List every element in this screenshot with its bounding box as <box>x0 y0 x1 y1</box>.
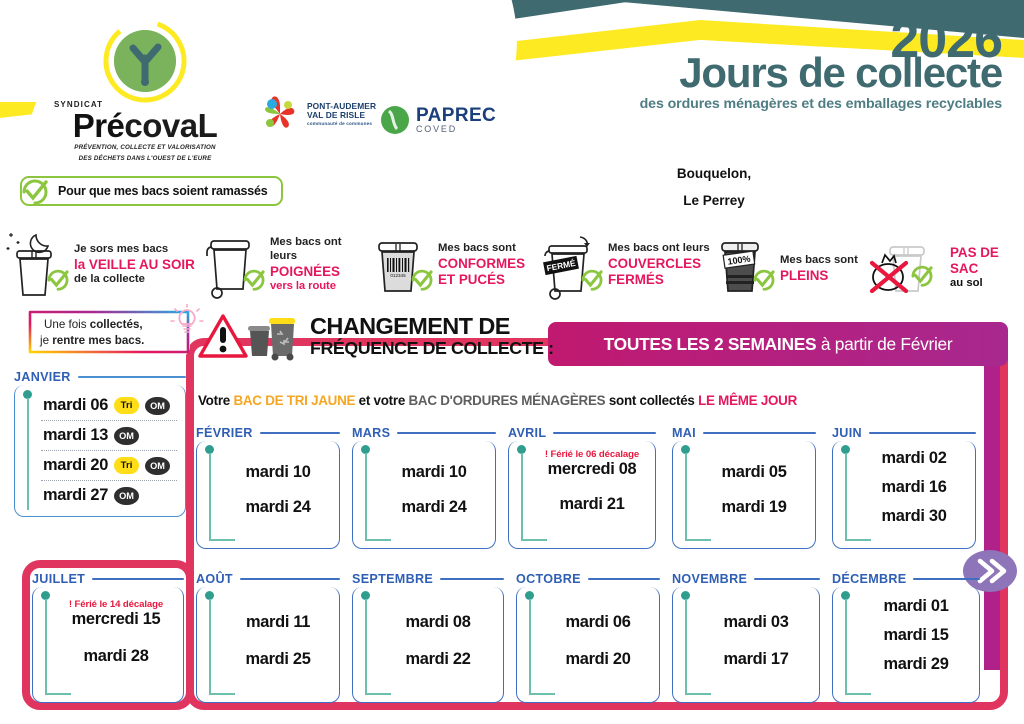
month-date: mardi 03 <box>703 613 809 632</box>
rule-line2: CONFORMES <box>438 256 525 272</box>
frequency-rest: à partir de Février <box>816 334 952 354</box>
month-date: mardi 24 <box>383 498 485 517</box>
month-rule <box>397 432 496 434</box>
timeline-foot <box>685 539 711 541</box>
month-card-octobre: OCTOBRE mardi 06 mardi 20 <box>516 570 660 703</box>
bins-collected-label: Pour que mes bacs soient ramassés <box>58 184 267 198</box>
month-card-mai: MAI mardi 05 mardi 19 <box>672 424 816 549</box>
month-date: mardi 10 <box>383 463 485 482</box>
return-bins-l2a: je <box>40 334 52 347</box>
town-2: Le Perrey <box>614 187 814 214</box>
month-card-mars: MARS mardi 10 mardi 24 <box>352 424 496 549</box>
rule-text: Je sors mes bacs la VEILLE AU SOIR de la… <box>62 243 195 287</box>
month-dates: mardi 11 mardi 25 <box>227 613 329 669</box>
month-name-fevrier: FÉVRIER <box>196 426 253 440</box>
rule-line3: ET PUCÉS <box>438 272 525 288</box>
month-name-mars: MARS <box>352 426 390 440</box>
check-icon <box>408 267 436 295</box>
month-timeline <box>205 445 215 541</box>
paprec-sub: COVED <box>416 125 496 134</box>
month-card-juillet: JUILLET ! Férié le 14 décalage mercredi … <box>32 570 184 703</box>
month-date: mardi 25 <box>227 650 329 669</box>
return-bins-line1: Une fois collectés, <box>30 317 182 333</box>
janvier-row: mardi 20 Tri OM <box>37 451 181 480</box>
janvier-date: mardi 06 <box>43 396 108 415</box>
notice-part-6: LE MÊME JOUR <box>698 393 797 408</box>
timeline-foot <box>529 693 555 695</box>
pavr-flower-icon <box>258 92 302 136</box>
return-bins-line2: je rentre mes bacs. <box>30 333 182 349</box>
janvier-date: mardi 13 <box>43 426 108 445</box>
notice-part-3: et votre <box>355 393 408 408</box>
frequency-value-text: TOUTES LES 2 SEMAINES à partir de Févrie… <box>604 334 953 355</box>
month-date: mardi 30 <box>863 507 965 526</box>
month-date: mardi 29 <box>863 655 969 674</box>
rule-line2: POIGNÉES <box>270 264 370 280</box>
month-date: mardi 02 <box>863 449 965 468</box>
rule-line1: Mes bacs ont leurs <box>608 242 710 256</box>
badge-om: OM <box>114 487 139 505</box>
pavr-sub: communauté de communes <box>307 121 376 126</box>
bin-closed-icon: FERMÉ <box>540 229 596 301</box>
frequency-change-line2: FRÉQUENCE DE COLLECTE : <box>310 339 554 358</box>
month-box-juillet: ! Férié le 14 décalage mercredi 15 mardi… <box>32 587 184 703</box>
month-card-juin: JUIN mardi 02 mardi 16 mardi 30 <box>832 424 976 549</box>
rule-text: Mes bacs sont CONFORMES ET PUCÉS <box>426 242 525 288</box>
rule-text: PAS DE SAC au sol <box>934 239 1014 291</box>
month-card-aout: AOÛT mardi 11 mardi 25 <box>196 570 340 703</box>
month-rule <box>588 578 660 580</box>
month-date: mardi 15 <box>863 626 969 645</box>
frequency-value-banner: TOUTES LES 2 SEMAINES à partir de Févrie… <box>548 322 1008 366</box>
logo-wordmark: PrécovaL <box>30 109 260 142</box>
month-rule <box>703 432 816 434</box>
frequency-change-line1: CHANGEMENT DE <box>310 314 554 339</box>
month-card-septembre: SEPTEMBRE mardi 08 mardi 22 <box>352 570 504 703</box>
logo-tagline-line2: DES DÉCHETS DANS L'OUEST DE L'EURE <box>30 155 260 164</box>
month-date: mardi 16 <box>863 478 965 497</box>
month-rule <box>553 432 656 434</box>
rule-no-bag: PAS DE SAC au sol <box>864 224 1014 306</box>
month-timeline <box>681 591 691 695</box>
timeline-stem <box>845 599 847 695</box>
month-timeline <box>41 591 51 695</box>
month-header-janvier: JANVIER <box>14 368 186 385</box>
month-rule <box>240 578 340 580</box>
timeline-stem <box>27 398 29 510</box>
month-name-aout: AOÛT <box>196 572 233 586</box>
month-rule <box>260 432 340 434</box>
month-name-mai: MAI <box>672 426 696 440</box>
precoval-logo: SYNDICAT PrécovaL PRÉVENTION, COLLECTE E… <box>30 18 260 158</box>
frequency-change-banner: CHANGEMENT DE FRÉQUENCE DE COLLECTE : <box>198 310 554 362</box>
month-rule <box>92 578 184 580</box>
month-date: mardi 19 <box>703 498 805 517</box>
month-rule <box>869 432 976 434</box>
check-icon <box>240 267 268 295</box>
month-box-juin: mardi 02 mardi 16 mardi 30 <box>832 441 976 549</box>
janvier-date: mardi 27 <box>43 486 108 505</box>
timeline-stem <box>365 453 367 541</box>
timeline-foot <box>845 693 871 695</box>
month-timeline <box>525 591 535 695</box>
month-date: mardi 28 <box>55 647 177 666</box>
month-date: mardi 06 <box>547 613 649 632</box>
month-timeline <box>361 445 371 541</box>
timeline-stem <box>209 453 211 541</box>
month-timeline <box>681 445 691 541</box>
month-date: mercredi 08 <box>535 460 649 479</box>
frequency-bold: TOUTES LES 2 SEMAINES <box>604 334 817 354</box>
timeline-stem <box>45 599 47 695</box>
timeline-foot <box>521 539 547 541</box>
bin-full-icon: 100% <box>712 229 768 301</box>
month-box-octobre: mardi 06 mardi 20 <box>516 587 660 703</box>
month-dates: mardi 08 mardi 22 <box>383 613 493 669</box>
month-date: mardi 01 <box>863 597 969 616</box>
logo-tagline-line1: PRÉVENTION, COLLECTE ET VALORISATION <box>30 144 260 153</box>
rule-bin-full: 100% Mes bacs sont PLEINS <box>712 224 864 306</box>
check-icon <box>578 267 606 295</box>
timeline-stem <box>209 599 211 695</box>
town-1: Bouquelon, <box>614 160 814 187</box>
timeline-foot <box>845 539 871 541</box>
month-card-janvier: JANVIER mardi 06 Tri OM mardi 13 OM mard… <box>14 368 186 517</box>
notice-part-4: BAC D'ORDURES MÉNAGÈRES <box>409 393 606 408</box>
rule-line3: vers la route <box>270 280 370 294</box>
timeline-foot <box>209 539 235 541</box>
month-name-juin: JUIN <box>832 426 862 440</box>
timeline-stem <box>365 599 367 695</box>
month-holiday-note: ! Férié le 14 décalage <box>55 599 177 610</box>
month-name-octobre: OCTOBRE <box>516 572 581 586</box>
month-card-decembre: DÉCEMBRE mardi 01 mardi 15 mardi 29 <box>832 570 980 703</box>
month-dates: ! Férié le 06 décalage mercredi 08 mardi… <box>535 449 649 514</box>
month-box-septembre: mardi 08 mardi 22 <box>352 587 504 703</box>
month-box-avril: ! Férié le 06 décalage mercredi 08 mardi… <box>508 441 656 549</box>
bin-night-icon <box>6 229 62 301</box>
janvier-date: mardi 20 <box>43 456 108 475</box>
month-dates: ! Férié le 14 décalage mercredi 15 mardi… <box>55 599 177 666</box>
same-day-notice: Votre BAC DE TRI JAUNE et votre BAC D'OR… <box>198 392 994 410</box>
month-date: mardi 21 <box>535 495 649 514</box>
rule-line3: de la collecte <box>74 273 195 287</box>
check-icon <box>44 267 72 295</box>
notice-part-1: Votre <box>198 393 233 408</box>
month-name-avril: AVRIL <box>508 426 546 440</box>
month-holiday-note: ! Férié le 06 décalage <box>535 449 649 460</box>
timeline-stem <box>521 453 523 541</box>
page-subtitle: des ordures ménagères et des emballages … <box>482 96 1002 112</box>
month-name-novembre: NOVEMBRE <box>672 572 747 586</box>
partner-logo-paprec: PAPREC COVED <box>380 105 496 135</box>
two-bins-icon <box>244 310 300 362</box>
pavr-text: PONT-AUDEMER VAL DE RISLE communauté de … <box>307 102 376 127</box>
month-date: mardi 24 <box>227 498 329 517</box>
month-box-novembre: mardi 03 mardi 17 <box>672 587 820 703</box>
rule-line1: Mes bacs sont <box>780 254 858 268</box>
janvier-row: mardi 27 OM <box>37 481 181 510</box>
rule-text: Mes bacs sont PLEINS <box>768 246 858 284</box>
month-dates: mardi 05 mardi 19 <box>703 463 805 517</box>
rule-line2: PLEINS <box>780 268 858 284</box>
logo-wordmark-pre: Pré <box>73 107 125 144</box>
page-title: Jours de collecte <box>482 55 1002 91</box>
check-icon <box>750 267 778 295</box>
rule-bin-barcode: 012345 Mes bacs sont CONFORMES ET PUCÉS <box>370 224 540 306</box>
month-timeline <box>361 591 371 695</box>
month-timeline <box>841 445 851 541</box>
rule-line2: la VEILLE AU SOIR <box>74 257 195 273</box>
month-date: mardi 05 <box>703 463 805 482</box>
month-date: mardi 22 <box>383 650 493 669</box>
month-dates: mardi 06 mardi 20 <box>547 613 649 669</box>
month-date: mercredi 15 <box>55 610 177 629</box>
return-bins-card: Une fois collectés, je rentre mes bacs. <box>22 312 190 356</box>
month-box-mars: mardi 10 mardi 24 <box>352 441 496 549</box>
timeline-foot <box>209 693 235 695</box>
rule-line2: PAS DE SAC <box>950 245 1014 278</box>
town-list: Bouquelon, Le Perrey <box>614 160 814 214</box>
magenta-side-bar <box>984 330 1000 670</box>
return-bins-l1a: Une fois <box>44 318 90 331</box>
bins-collected-banner: Pour que mes bacs soient ramassés <box>20 176 283 206</box>
badge-tri: Tri <box>114 397 139 414</box>
month-date: mardi 11 <box>227 613 329 632</box>
month-timeline <box>841 591 851 695</box>
timeline-foot <box>365 693 391 695</box>
svg-text:012345: 012345 <box>390 273 406 278</box>
logo-wordmark-rest: covaL <box>124 107 217 144</box>
month-timeline <box>23 390 33 510</box>
month-box-mai: mardi 05 mardi 19 <box>672 441 816 549</box>
rule-bin-closed: FERMÉ Mes bacs ont leurs COUVERCLES FERM… <box>540 224 712 306</box>
frequency-change-text: CHANGEMENT DE FRÉQUENCE DE COLLECTE : <box>310 314 554 357</box>
timeline-foot <box>685 693 711 695</box>
rule-line1: Mes bacs sont <box>438 242 525 256</box>
return-bins-l1b: collectés, <box>90 318 143 331</box>
bin-handles-icon <box>202 229 258 301</box>
month-rule <box>78 376 186 378</box>
month-box-janvier: mardi 06 Tri OM mardi 13 OM mardi 20 Tri… <box>14 385 186 517</box>
month-date: mardi 17 <box>703 650 809 669</box>
month-timeline <box>517 445 527 541</box>
rule-line3: FERMÉS <box>608 272 710 288</box>
pavr-line2: VAL DE RISLE <box>307 110 365 120</box>
month-date: mardi 10 <box>227 463 329 482</box>
rule-line1: Mes bacs ont leurs <box>270 236 370 264</box>
month-date: mardi 20 <box>547 650 649 669</box>
rule-bin-handles: Mes bacs ont leurs POIGNÉES vers la rout… <box>202 224 370 306</box>
month-name-juillet: JUILLET <box>32 572 85 586</box>
month-rule <box>440 578 504 580</box>
check-icon <box>18 176 52 210</box>
rule-text: Mes bacs ont leurs COUVERCLES FERMÉS <box>596 242 710 288</box>
no-bag-icon <box>864 229 934 301</box>
check-icon <box>908 263 936 291</box>
month-box-fevrier: mardi 10 mardi 24 <box>196 441 340 549</box>
rule-text: Mes bacs ont leurs POIGNÉES vers la rout… <box>258 236 370 294</box>
month-box-decembre: mardi 01 mardi 15 mardi 29 <box>832 587 980 703</box>
month-rule <box>754 578 820 580</box>
month-dates: mardi 10 mardi 24 <box>383 463 485 517</box>
badge-om: OM <box>145 397 170 415</box>
rule-line3: au sol <box>950 277 1014 291</box>
rule-line1: Je sors mes bacs <box>74 243 195 257</box>
timeline-stem <box>685 453 687 541</box>
timeline-foot <box>365 539 391 541</box>
month-date: mardi 08 <box>383 613 493 632</box>
badge-om: OM <box>114 427 139 445</box>
badge-om: OM <box>145 457 170 475</box>
warning-triangle-icon <box>198 313 248 359</box>
month-card-novembre: NOVEMBRE mardi 03 mardi 17 <box>672 570 820 703</box>
month-card-fevrier: FÉVRIER mardi 10 mardi 24 <box>196 424 340 549</box>
badge-tri: Tri <box>114 457 139 474</box>
precoval-logo-mark <box>102 18 188 104</box>
timeline-foot <box>45 693 71 695</box>
month-dates: mardi 02 mardi 16 mardi 30 <box>863 449 965 526</box>
month-name-janvier: JANVIER <box>14 370 71 384</box>
partner-logo-pont-audemer: PONT-AUDEMER VAL DE RISLE communauté de … <box>258 92 376 136</box>
paprec-globe-icon <box>380 105 410 135</box>
month-timeline <box>205 591 215 695</box>
title-block: 2026 Jours de collecte des ordures ménag… <box>482 18 1002 112</box>
timeline-stem <box>685 599 687 695</box>
timeline-stem <box>529 599 531 695</box>
return-bins-l2b: rentre mes bacs. <box>52 334 144 347</box>
month-name-decembre: DÉCEMBRE <box>832 572 906 586</box>
rule-bin-night: Je sors mes bacs la VEILLE AU SOIR de la… <box>6 224 202 306</box>
month-dates: mardi 03 mardi 17 <box>703 613 809 669</box>
month-rule <box>913 578 980 580</box>
month-card-avril: AVRIL ! Férié le 06 décalage mercredi 08… <box>508 424 656 549</box>
rules-row: Je sors mes bacs la VEILLE AU SOIR de la… <box>6 224 1018 306</box>
month-box-aout: mardi 11 mardi 25 <box>196 587 340 703</box>
janvier-row: mardi 06 Tri OM <box>37 391 181 420</box>
timeline-stem <box>845 453 847 541</box>
month-dates: mardi 10 mardi 24 <box>227 463 329 517</box>
rule-line2: COUVERCLES <box>608 256 710 272</box>
month-name-septembre: SEPTEMBRE <box>352 572 433 586</box>
notice-part-2: BAC DE TRI JAUNE <box>233 393 355 408</box>
bin-barcode-icon: 012345 <box>370 229 426 301</box>
janvier-row: mardi 13 OM <box>37 421 181 450</box>
month-dates: mardi 01 mardi 15 mardi 29 <box>863 597 969 674</box>
notice-part-5: sont collectés <box>605 393 698 408</box>
